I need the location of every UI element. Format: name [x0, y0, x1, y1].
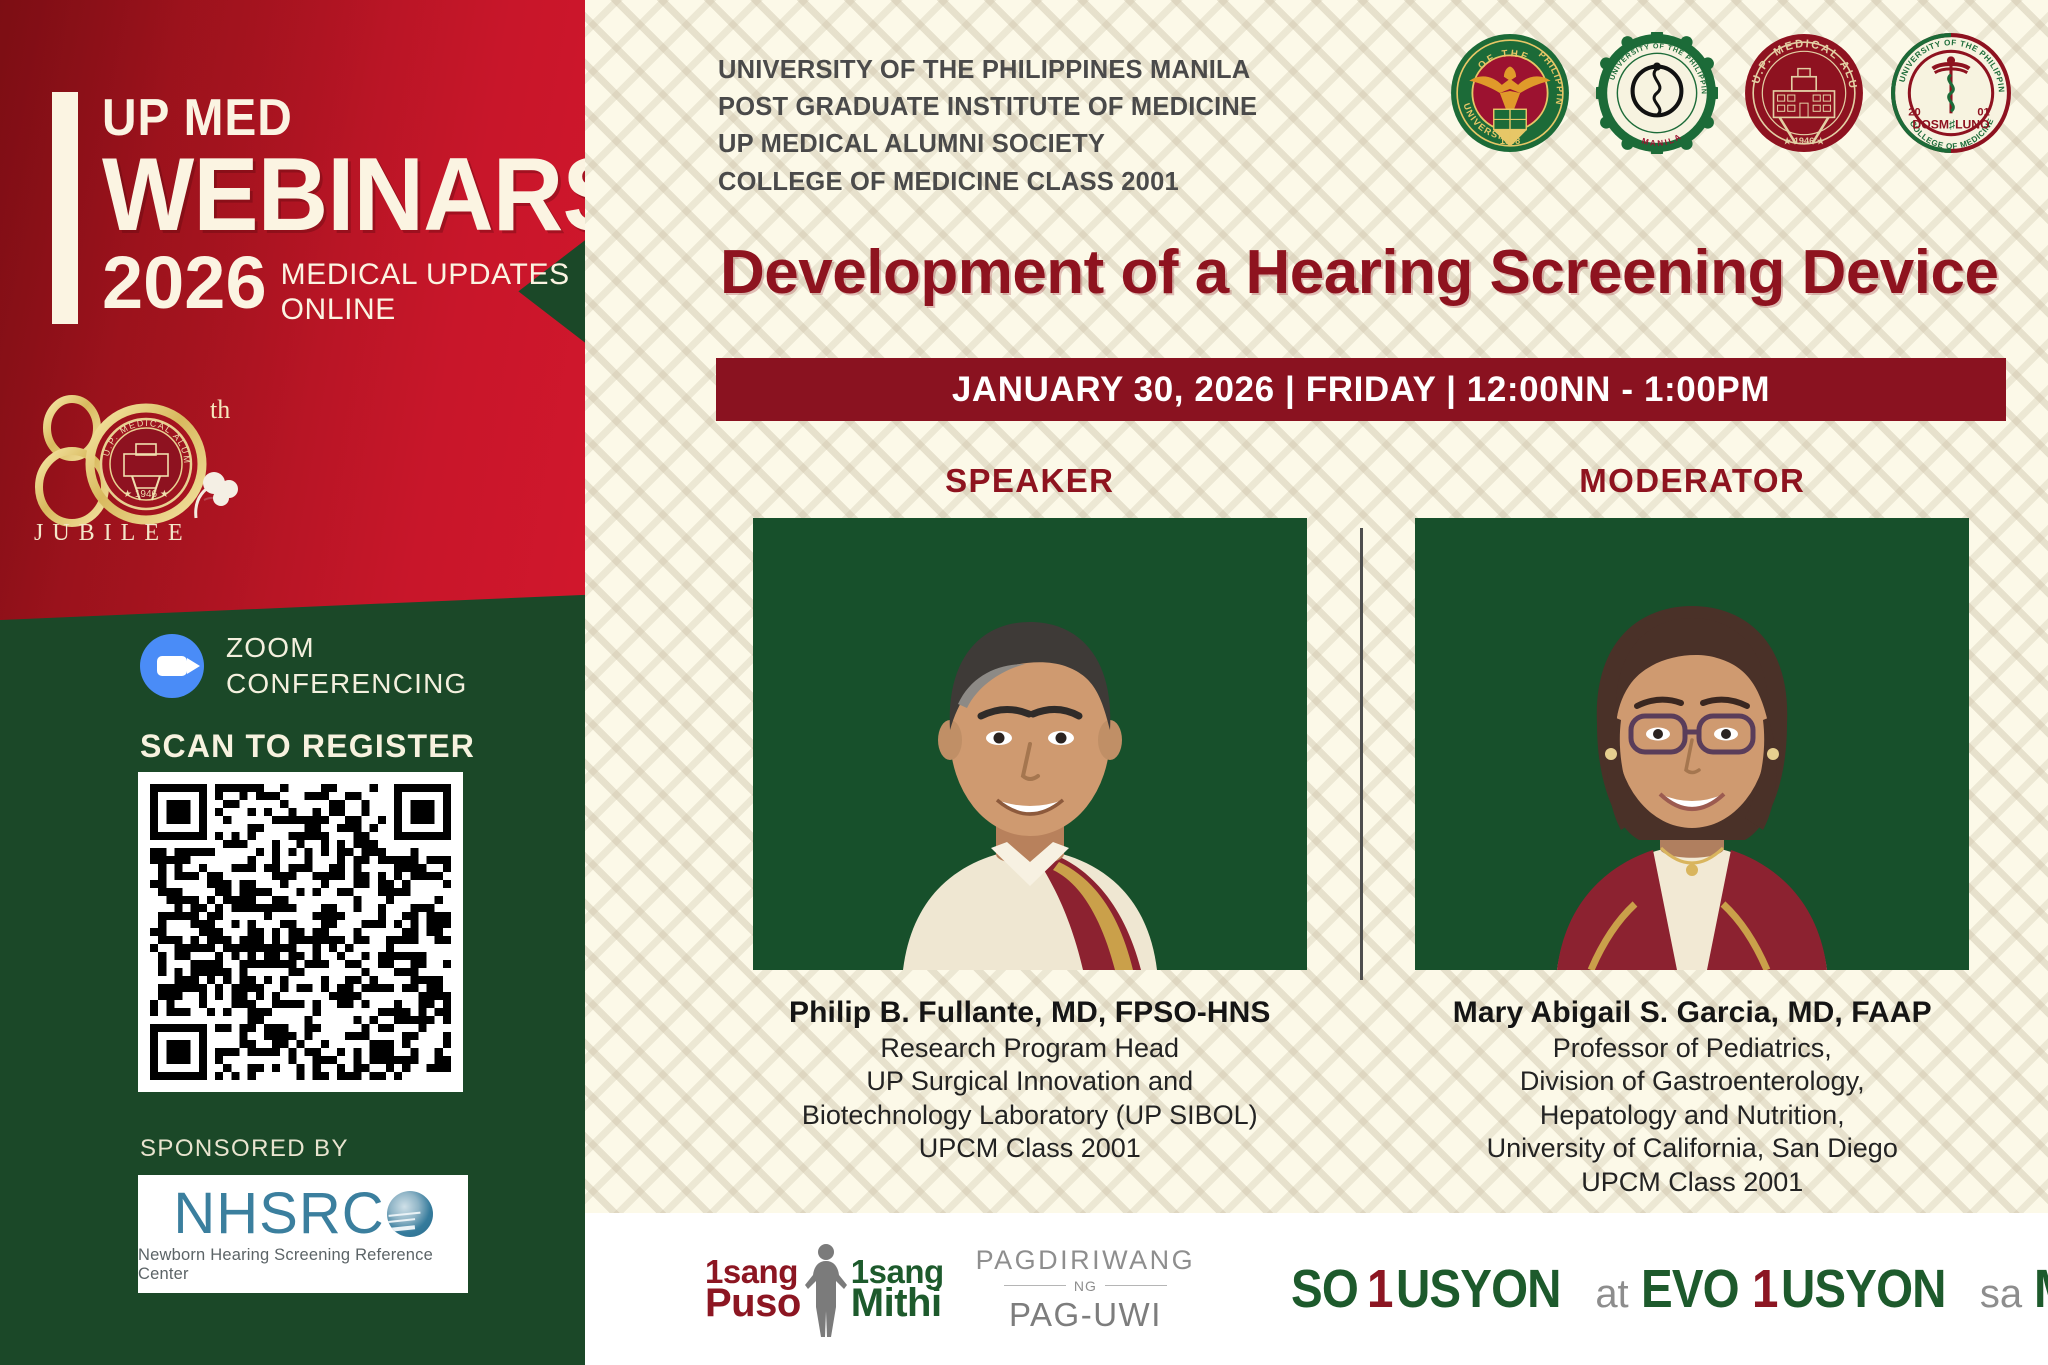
zoom-conferencing-row: ZOOM CONFERENCING — [140, 630, 468, 702]
sponsor-name: NHSRC — [173, 1185, 384, 1243]
jubilee-label: JUBILEE — [34, 520, 192, 547]
slogan-evolusyon-tail: USYON — [1781, 1258, 1946, 1320]
sponsored-by-label: SPONSORED BY — [140, 1135, 349, 1163]
zoom-label-line1: ZOOM — [226, 630, 468, 666]
slogan-sa: sa — [1980, 1272, 2022, 1317]
organizer-line-3: UP MEDICAL ALUMNI SOCIETY — [718, 126, 1257, 163]
svg-text:DOSM♯LUNO: DOSM♯LUNO — [1912, 118, 1989, 132]
speaker-card: SPEAKER — [716, 462, 1344, 1199]
organizer-line-4: COLLEGE OF MEDICINE CLASS 2001 — [718, 164, 1257, 201]
pagdiriwang-rule-right — [1105, 1285, 1167, 1286]
brand-sub-line1: MEDICAL UPDATES — [281, 257, 570, 292]
zoom-video-icon — [140, 634, 204, 698]
speaker-description: Research Program Head UP Surgical Innova… — [802, 1032, 1258, 1166]
isang-puso-isang-mithi-logo: 1sang Puso 1sang Mithi — [705, 1241, 944, 1337]
slogan-solusyon-tail: USYON — [1396, 1258, 1561, 1320]
qr-code-container[interactable] — [138, 772, 463, 1092]
sponsor-tagline: Newborn Hearing Screening Reference Cent… — [138, 1246, 468, 1284]
nhsrc-globe-icon — [387, 1191, 433, 1237]
human-figure-icon — [803, 1241, 849, 1337]
brand-sub-line2: ONLINE — [281, 292, 570, 327]
slogan-medisina: MEDISINA — [2034, 1258, 2048, 1320]
date-time-text: JANUARY 30, 2026 | FRIDAY | 12:00NN - 1:… — [952, 370, 1770, 410]
svg-text:★ 1946 ★: ★ 1946 ★ — [123, 489, 169, 500]
pagdiriwang-ng-pag-uwi-logo: PAGDIRIWANG NG PAG-UWI — [976, 1245, 1196, 1334]
organizer-line-1: UNIVERSITY OF THE PHILIPPINES MANILA — [718, 52, 1257, 89]
up-manila-seal-icon: UNIVERSITY OF THE PHILIPPINES MANILA — [1596, 32, 1718, 154]
theme-slogan: SO 1 USYON at EVO 1 USYON sa MEDISINA — [1291, 1258, 2048, 1320]
moderator-card: MODERATOR — [1379, 462, 2007, 1199]
qr-code-image[interactable] — [150, 784, 451, 1080]
people-section: SPEAKER — [716, 462, 2006, 1199]
svg-text:★ 1946 ★: ★ 1946 ★ — [1782, 136, 1826, 146]
brand-webinars: WEBINARS — [102, 146, 585, 245]
institution-seals: OF THE UNIVERSITY PHILIPPINES 1908 — [1449, 32, 2012, 154]
moderator-photo — [1415, 518, 1969, 970]
slogan-solusyon-prefix: SO — [1291, 1258, 1358, 1320]
moderator-description: Professor of Pediatrics, Division of Gas… — [1487, 1032, 1898, 1199]
slogan-evolusyon-number: 1 — [1752, 1258, 1778, 1320]
organizer-block: UNIVERSITY OF THE PHILIPPINES MANILA POS… — [718, 52, 1257, 201]
slogan-evolusyon-prefix: EVO — [1641, 1258, 1739, 1320]
scan-to-register-label: SCAN TO REGISTER — [140, 728, 475, 765]
left-sidebar: UP MED WEBINARS 2026 MEDICAL UPDATES ONL… — [0, 0, 585, 1365]
upmas-seal-icon: U.P. MEDICAL ALUMNI SOCIETY ★ 1946 ★ — [1743, 32, 1865, 154]
people-divider — [1360, 528, 1363, 980]
isang-puso-bottom: Puso — [705, 1286, 801, 1320]
pagdiriwang-ng: NG — [1074, 1278, 1097, 1294]
moderator-role-label: MODERATOR — [1579, 462, 1805, 500]
speaker-role-label: SPEAKER — [945, 462, 1114, 500]
speaker-name: Philip B. Fullante, MD, FPSO-HNS — [789, 996, 1271, 1030]
pagdiriwang-rule-left — [1004, 1285, 1066, 1286]
up-system-seal-icon: OF THE UNIVERSITY PHILIPPINES 1908 — [1449, 32, 1571, 154]
pagdiriwang-top: PAGDIRIWANG — [976, 1245, 1196, 1276]
date-time-bar: JANUARY 30, 2026 | FRIDAY | 12:00NN - 1:… — [716, 358, 2006, 421]
brand-accent-bar — [52, 92, 78, 324]
slogan-at: at — [1595, 1272, 1628, 1317]
speaker-photo — [753, 518, 1307, 970]
isang-mithi-bottom: Mithi — [851, 1286, 944, 1320]
upcm-class-2001-seal-icon: UNIVERSITY OF THE PHILIPPINES COLLEGE OF… — [1890, 32, 2012, 154]
svg-text:01: 01 — [1977, 106, 1989, 118]
webinar-title: Development of a Hearing Screening Devic… — [720, 240, 2006, 306]
sponsor-logo-nhsrc: NHSRC Newborn Hearing Screening Referenc… — [138, 1175, 468, 1293]
organizer-line-2: POST GRADUATE INSTITUTE OF MEDICINE — [718, 89, 1257, 126]
svg-text:20: 20 — [1908, 106, 1920, 118]
webinar-poster: UP MED WEBINARS 2026 MEDICAL UPDATES ONL… — [0, 0, 2048, 1365]
brand-year: 2026 — [102, 249, 267, 317]
zoom-label-line2: CONFERENCING — [226, 666, 468, 702]
pagdiriwang-bottom: PAG-UWI — [976, 1296, 1196, 1334]
brand-lockup: UP MED WEBINARS 2026 MEDICAL UPDATES ONL… — [52, 92, 585, 327]
svg-text:th: th — [210, 395, 230, 424]
moderator-name: Mary Abigail S. Garcia, MD, FAAP — [1453, 996, 1932, 1030]
footer-bar: 1sang Puso 1sang Mithi PAGDIRIWANG NG PA… — [585, 1213, 2048, 1365]
slogan-solusyon-number: 1 — [1367, 1258, 1393, 1320]
